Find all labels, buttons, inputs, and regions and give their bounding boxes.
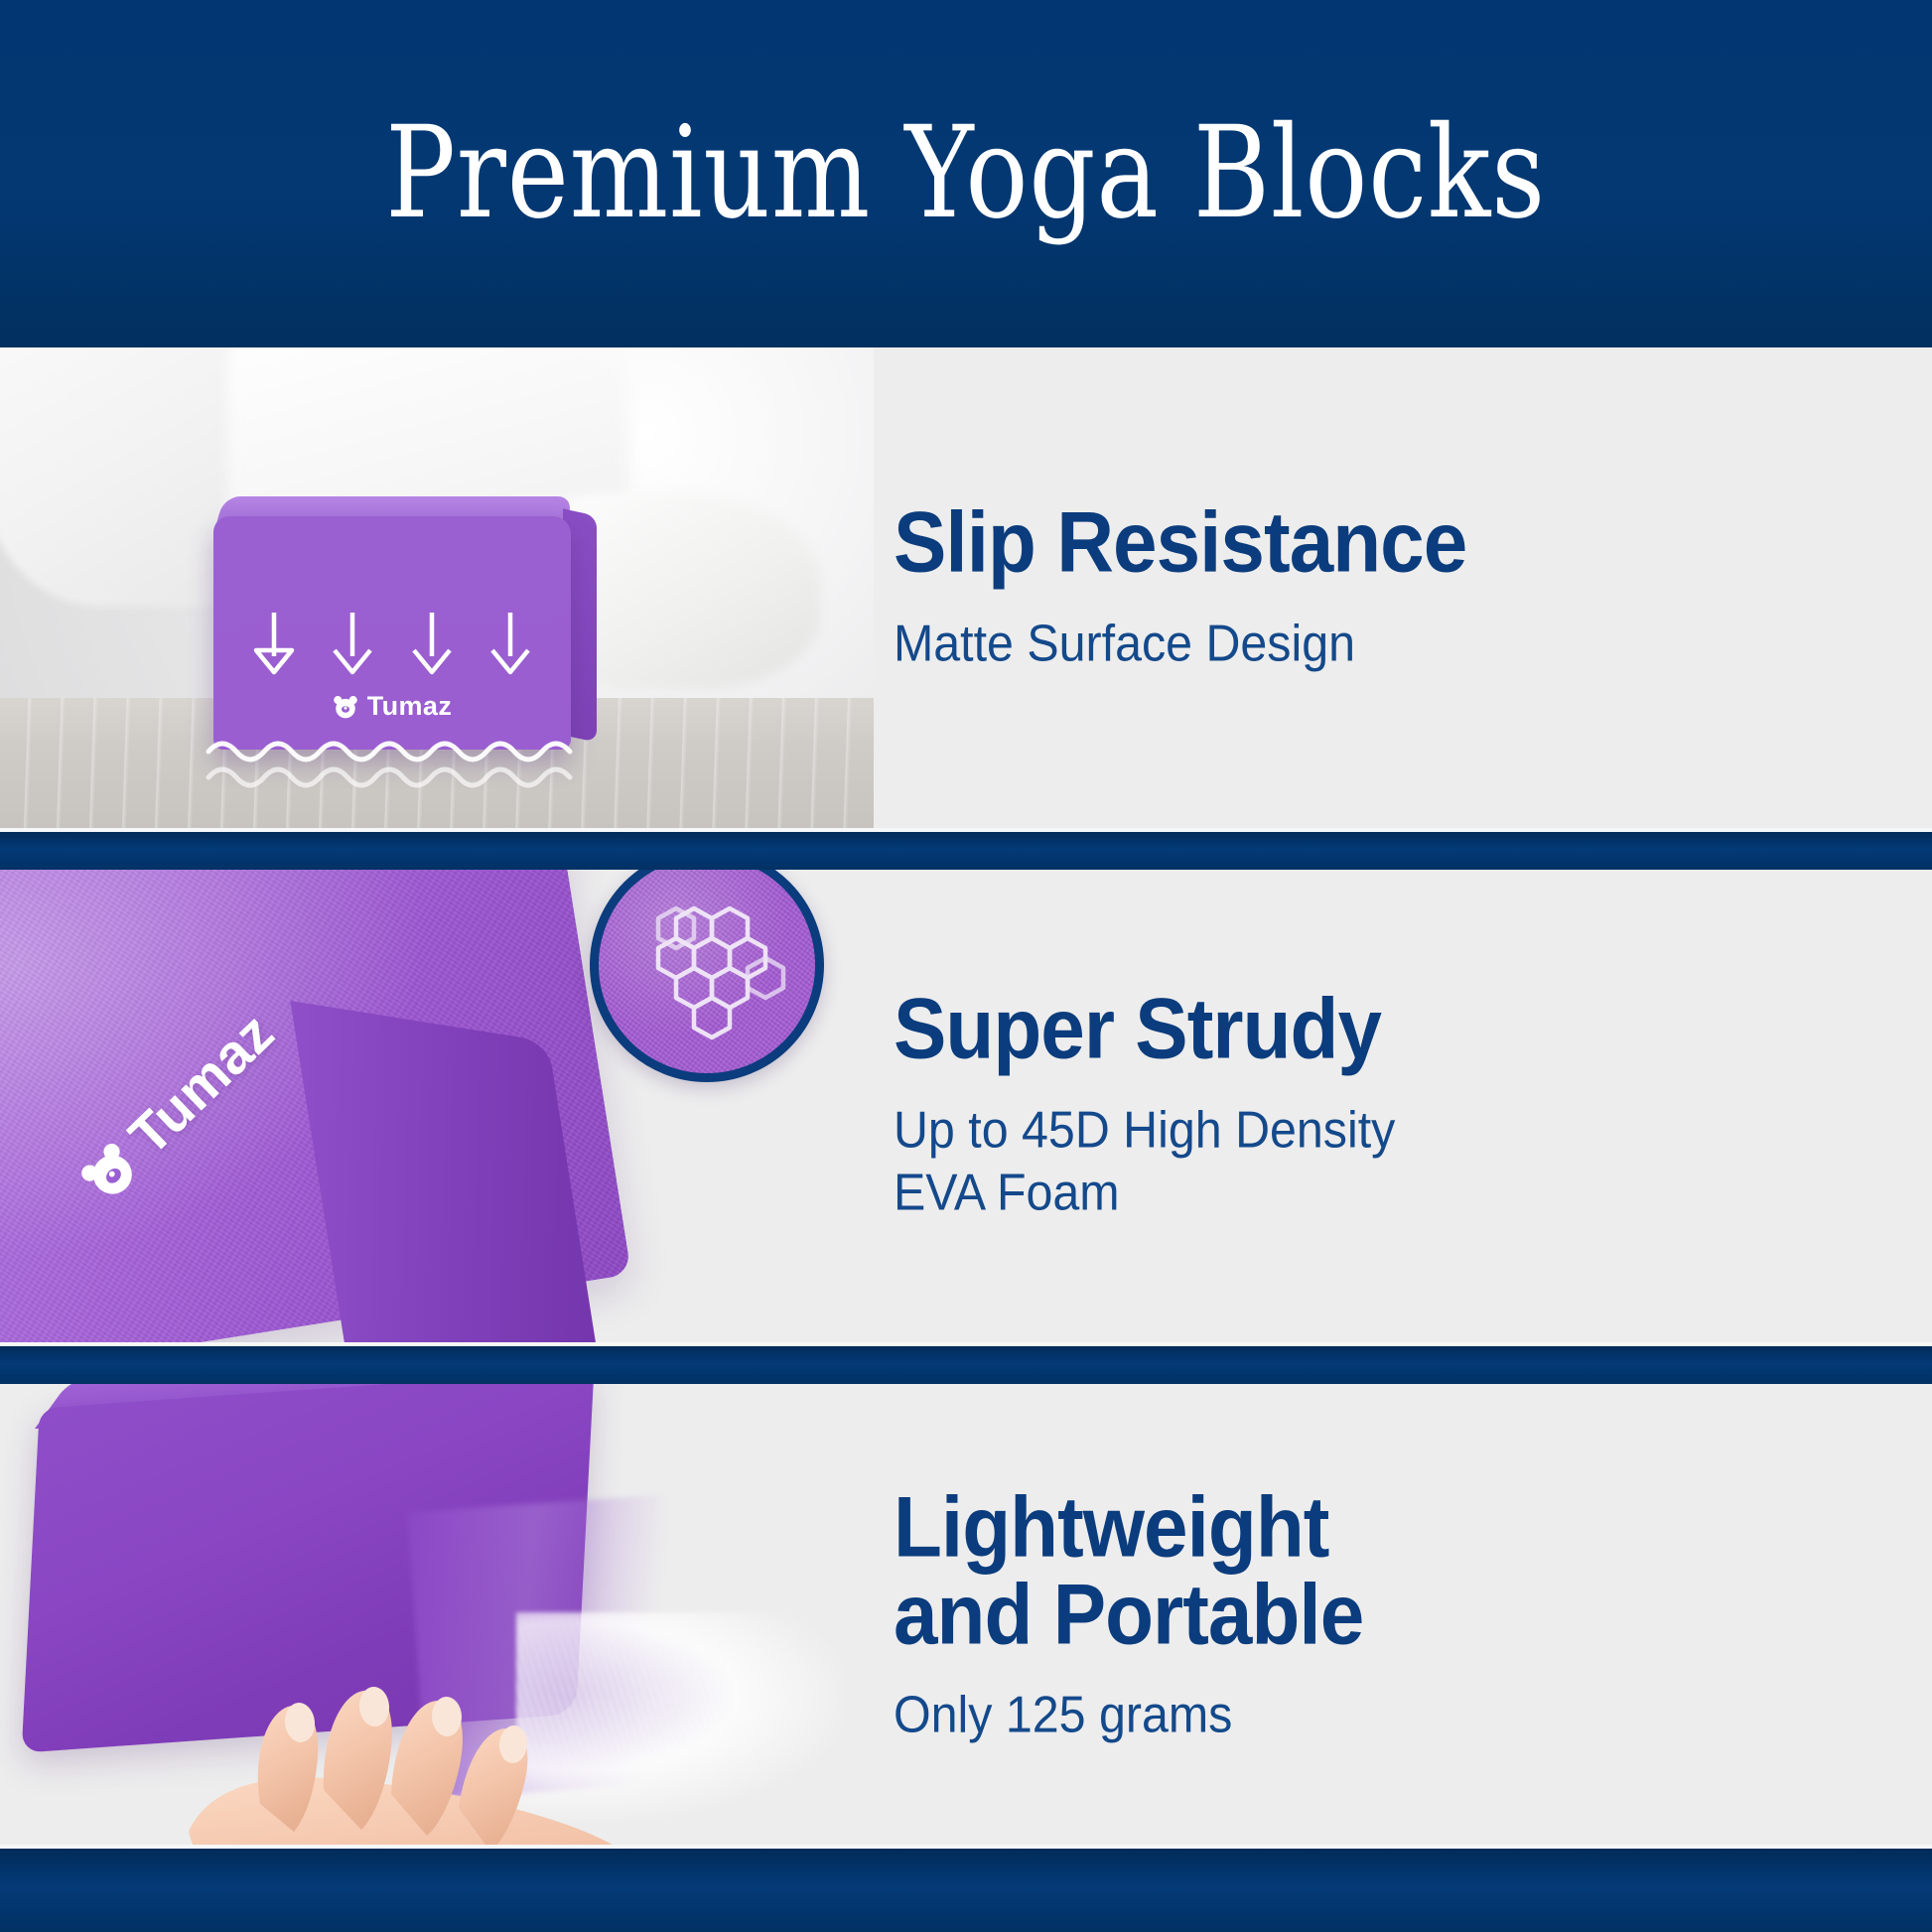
footer-band xyxy=(0,1849,1932,1932)
feature-section-super-strudy: Tumaz xyxy=(0,870,1932,1342)
feature-text-lightweight-and-portable: Lightweight and Portable Only 125 grams xyxy=(894,1485,1906,1748)
down-arrow-icon xyxy=(487,611,533,688)
bear-head-icon xyxy=(333,694,358,720)
feature-title: Super Strudy xyxy=(894,987,1836,1074)
downward-pressure-arrows xyxy=(251,611,533,688)
block-front-face: Tumaz xyxy=(213,516,571,750)
feature-section-slip-resistance: Tumaz Slip Resistance Matte Surface Desi… xyxy=(0,347,1932,828)
feature-title: Slip Resistance xyxy=(894,499,1836,587)
header-banner: Premium Yoga Blocks xyxy=(0,0,1932,347)
feature-image-slip-resistance: Tumaz xyxy=(0,347,874,828)
section-divider-2 xyxy=(0,1346,1932,1384)
down-arrow-icon xyxy=(409,611,455,688)
feature-subtitle: Up to 45D High Density EVA Foam xyxy=(894,1099,1836,1225)
feature-section-lightweight-and-portable: Lightweight and Portable Only 125 grams xyxy=(0,1384,1932,1849)
feature-text-super-strudy: Super Strudy Up to 45D High Density EVA … xyxy=(894,987,1906,1226)
feature-subtitle: Matte Surface Design xyxy=(894,613,1836,675)
open-hand-illustration xyxy=(149,1637,745,1849)
feature-title: Lightweight and Portable xyxy=(894,1485,1836,1659)
down-arrow-icon xyxy=(251,611,297,688)
down-arrow-icon xyxy=(330,611,375,688)
feature-image-lightweight-and-portable xyxy=(0,1384,874,1849)
wavy-grip-lines-icon xyxy=(205,730,602,799)
page-title: Premium Yoga Blocks xyxy=(386,110,1547,237)
yoga-block-purple: Tumaz xyxy=(213,516,571,750)
feature-subtitle: Only 125 grams xyxy=(894,1685,1836,1747)
feature-text-slip-resistance: Slip Resistance Matte Surface Design xyxy=(894,499,1906,675)
magnifier-circle-icon xyxy=(590,870,824,1082)
block-brand-logo: Tumaz xyxy=(213,691,571,722)
product-infographic: Premium Yoga Blocks xyxy=(0,0,1932,1932)
brand-name: Tumaz xyxy=(367,691,453,722)
section-divider-1 xyxy=(0,832,1932,870)
honeycomb-pattern-icon xyxy=(599,870,824,1082)
